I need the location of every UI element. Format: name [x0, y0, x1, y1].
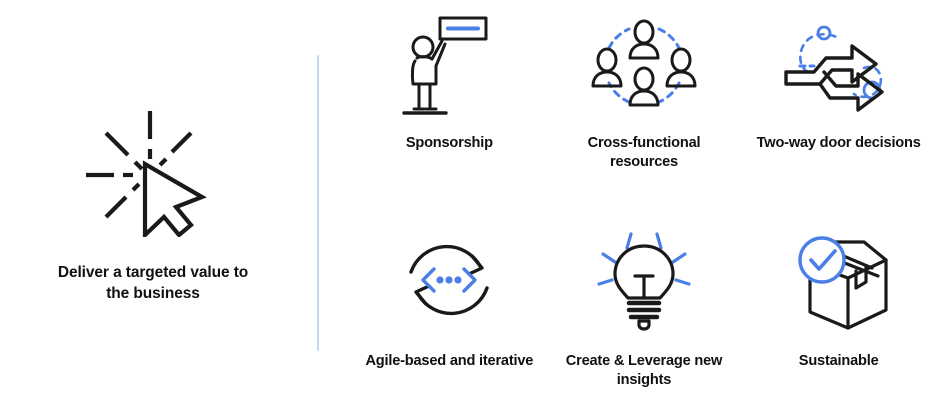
box-check-icon	[780, 224, 898, 336]
item-create-leverage-new-insights[interactable]: Create & Leverage new insights	[547, 206, 742, 412]
item-sustainable[interactable]: Sustainable	[741, 206, 936, 412]
item-sponsorship[interactable]: Sponsorship	[352, 0, 547, 206]
item-agile-based-and-iterative[interactable]: Agile-based and iterative	[352, 206, 547, 412]
people-circle-network-icon	[585, 10, 703, 122]
item-label: Agile-based and iterative	[360, 352, 538, 371]
item-label: Cross-functional resources	[555, 134, 733, 171]
person-presenting-board-icon	[390, 10, 508, 122]
lightbulb-rays-icon	[585, 224, 703, 336]
vertical-divider	[317, 55, 319, 351]
left-panel: Deliver a targeted value to the business	[0, 0, 300, 412]
item-cross-functional-resources[interactable]: Cross-functional resources	[547, 0, 742, 206]
forking-arrows-icon	[780, 10, 898, 122]
item-label: Create & Leverage new insights	[555, 352, 733, 389]
left-caption: Deliver a targeted value to the business	[48, 263, 258, 304]
item-label: Two-way door decisions	[750, 134, 928, 153]
click-cursor-icon	[78, 107, 228, 237]
items-grid: Sponsorship	[352, 0, 936, 412]
item-label: Sponsorship	[360, 134, 538, 153]
item-label: Sustainable	[750, 352, 928, 371]
item-two-way-door-decisions[interactable]: Two-way door decisions	[741, 0, 936, 206]
slide-canvas: Deliver a targeted value to the business	[0, 0, 936, 412]
circular-arrows-code-icon	[390, 224, 508, 336]
